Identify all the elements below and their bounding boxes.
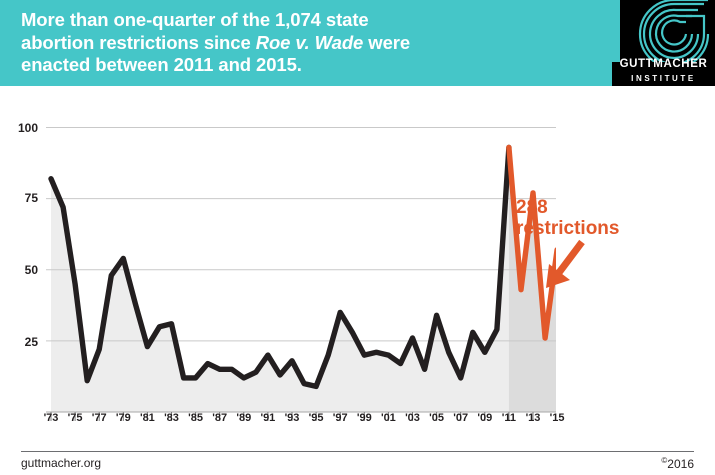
headline-line-3: enacted between 2011 and 2015. <box>21 54 302 75</box>
x-axis-label-13: '13 <box>520 412 546 424</box>
y-axis-label-50: 50 <box>8 263 38 277</box>
footer-copyright: ©2016 <box>661 456 694 471</box>
x-axis-label-81: '81 <box>134 412 160 424</box>
annotation-text: 288 restrictions <box>516 197 619 239</box>
x-axis-label-15: '15 <box>544 412 570 424</box>
x-axis-label-99: '99 <box>351 412 377 424</box>
x-axis-label-91: '91 <box>255 412 281 424</box>
footer-website[interactable]: guttmacher.org <box>21 456 101 470</box>
x-axis-label-83: '83 <box>159 412 185 424</box>
headline-line-2-pre: abortion restrictions since <box>21 32 256 53</box>
headline-line-2-post: were <box>363 32 410 53</box>
headline-case-name: Roe v. Wade <box>256 32 364 53</box>
guttmacher-logo: GUTTMACHER INSTITUTE <box>612 0 715 86</box>
y-axis-label-100: 100 <box>8 121 38 135</box>
x-axis-label-85: '85 <box>183 412 209 424</box>
down-left-arrow-icon <box>540 238 596 298</box>
x-axis-label-87: '87 <box>207 412 233 424</box>
header-banner: More than one-quarter of the 1,074 state… <box>0 0 715 86</box>
x-axis-label-01: '01 <box>375 412 401 424</box>
footer-divider <box>21 451 694 452</box>
annotation-label: restrictions <box>516 218 619 239</box>
headline-line-1: More than one-quarter of the 1,074 state <box>21 9 369 30</box>
x-axis-label-05: '05 <box>424 412 450 424</box>
x-axis-label-11: '11 <box>496 412 522 424</box>
page-title: More than one-quarter of the 1,074 state… <box>21 9 601 77</box>
y-axis-label-25: 25 <box>8 335 38 349</box>
x-axis-label-07: '07 <box>448 412 474 424</box>
logo-subtitle: INSTITUTE <box>612 74 715 83</box>
line-chart-plot <box>46 122 556 452</box>
copyright-year: 2016 <box>667 457 694 471</box>
x-axis-label-97: '97 <box>327 412 353 424</box>
y-axis-label-75: 75 <box>8 191 38 205</box>
x-axis-label-95: '95 <box>303 412 329 424</box>
x-axis-label-03: '03 <box>400 412 426 424</box>
logo-wordmark: GUTTMACHER <box>612 58 715 70</box>
x-axis-label-73: '73 <box>38 412 64 424</box>
chart-container: 100 75 50 25 '73'75'77'79'81'83'85'87'89… <box>0 86 715 446</box>
x-axis-label-77: '77 <box>86 412 112 424</box>
x-axis-label-89: '89 <box>231 412 257 424</box>
x-axis-label-75: '75 <box>62 412 88 424</box>
x-axis-label-79: '79 <box>110 412 136 424</box>
x-axis-label-09: '09 <box>472 412 498 424</box>
guttmacher-g-spiral-icon <box>612 0 715 62</box>
annotation-number: 288 <box>516 197 548 218</box>
x-axis-label-93: '93 <box>279 412 305 424</box>
